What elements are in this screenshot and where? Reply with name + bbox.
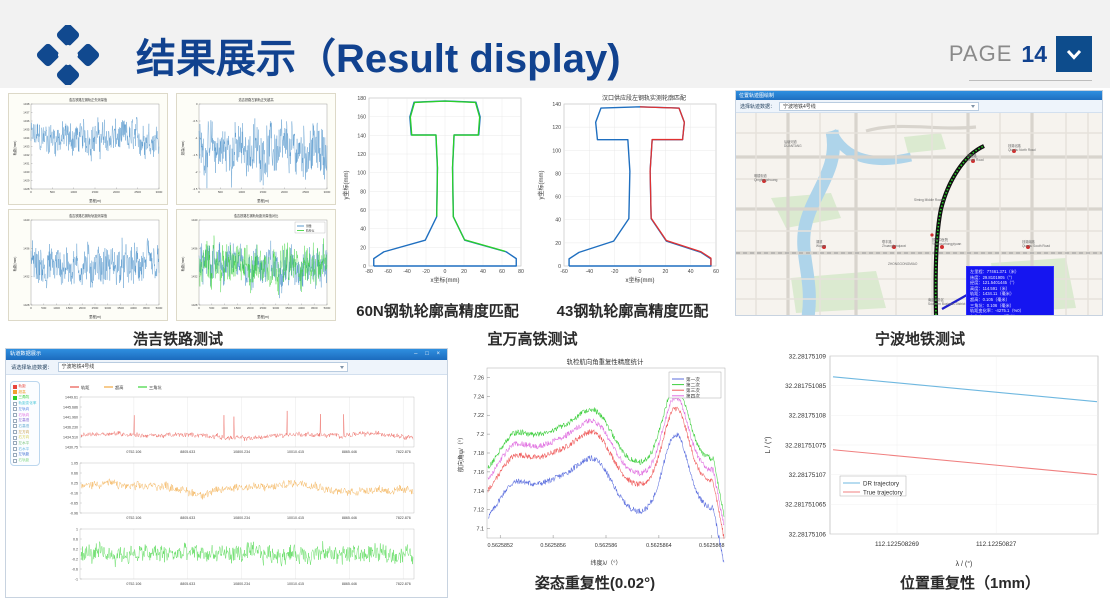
svg-text:Yinzhouzhongyiyuan: Yinzhouzhongyiyuan [932, 242, 962, 246]
chart-legend: 测量轨检仪 [295, 222, 325, 233]
svg-text:-0.5: -0.5 [193, 119, 198, 123]
y-axis-label: 轨距(mm) [12, 141, 17, 156]
svg-text:-1.5: -1.5 [193, 153, 198, 157]
svg-text:32.281751085: 32.281751085 [785, 383, 826, 390]
map-application-window[interactable]: 位置轨迹图绘制 选择轨迹数据： 宁波地铁4号线 [735, 90, 1103, 316]
chevron-down-icon [971, 105, 975, 108]
svg-text:Wupan: Wupan [816, 244, 826, 248]
svg-text:0752.106: 0752.106 [126, 516, 141, 520]
svg-text:32.281751065: 32.281751065 [785, 502, 826, 509]
svg-text:100: 100 [357, 171, 366, 177]
svg-text:500: 500 [41, 306, 46, 310]
y-axis-label: 轨距(mm) [12, 257, 17, 272]
svg-text:0: 0 [558, 264, 561, 270]
map-canvas[interactable]: 后塘河道DUANTANG 明楼街道Qingfengzhuang 湖滨Wupan … [736, 113, 1102, 316]
series-checkbox-row[interactable]: 轨距 [13, 384, 37, 389]
minimize-icon[interactable]: – [414, 351, 420, 357]
checkbox-icon[interactable] [13, 459, 17, 463]
svg-text:500: 500 [218, 190, 223, 194]
chart-title: 汉口供应段左钢轨实测轮廓匹配 [602, 94, 686, 102]
svg-text:1436: 1436 [191, 246, 198, 250]
svg-text:0.25: 0.25 [71, 481, 78, 485]
sw-plot-level[interactable]: 0752.1068805.63310800.23410010.4158865.4… [70, 461, 414, 520]
svg-text:3000: 3000 [324, 190, 331, 194]
svg-text:True trajectory: True trajectory [863, 489, 904, 496]
series-checkbox-row[interactable]: 右水平 [13, 447, 37, 452]
svg-text:1430.75: 1430.75 [65, 445, 78, 449]
svg-text:1431: 1431 [23, 162, 30, 166]
svg-text:8805.633: 8805.633 [180, 450, 195, 454]
svg-text:10800.234: 10800.234 [233, 582, 250, 586]
svg-text:-1: -1 [75, 577, 78, 581]
checkbox-icon[interactable] [13, 436, 17, 440]
x-axis-label: x坐标(mm) [431, 276, 460, 284]
y-axis-label: 轨距(mm) [180, 257, 185, 272]
svg-text:-0.96: -0.96 [70, 511, 78, 515]
svg-text:3500: 3500 [117, 306, 124, 310]
map-window-title: 位置轨迹图绘制 [736, 91, 1102, 100]
svg-text:0: 0 [196, 102, 198, 106]
sw-toolbar-label: 请选择轨迹数据： [11, 364, 53, 371]
checkbox-label: 右轨距 [19, 458, 30, 463]
svg-text:8805.633: 8805.633 [180, 582, 195, 586]
svg-text:0.6: 0.6 [73, 537, 78, 541]
x-axis-label: 里程(m) [257, 314, 269, 319]
page-number: 14 [1021, 41, 1047, 68]
svg-text:3000: 3000 [272, 306, 279, 310]
svg-text:1500: 1500 [92, 190, 99, 194]
svg-text:1437: 1437 [23, 111, 30, 115]
svg-text:10010.415: 10010.415 [287, 450, 304, 454]
series-checkbox-row[interactable]: 右轨距 [13, 458, 37, 463]
svg-text:40: 40 [360, 227, 366, 233]
svg-text:-0.2: -0.2 [72, 557, 78, 561]
checkbox-label: 左轨距 [19, 452, 30, 457]
svg-text:7.1: 7.1 [477, 527, 485, 533]
svg-text:-80: -80 [365, 269, 373, 275]
svg-text:40: 40 [480, 269, 486, 275]
svg-text:8805.633: 8805.633 [180, 516, 195, 520]
series-checkbox-row[interactable]: 左水平 [13, 441, 37, 446]
svg-text:40: 40 [555, 218, 561, 224]
checkbox-icon[interactable] [13, 441, 17, 445]
checkbox-icon[interactable] [13, 419, 17, 423]
slide-header: 结果展示（Result display) PAGE 14 [0, 0, 1110, 88]
svg-text:Jinshi Road: Jinshi Road [967, 158, 984, 162]
caption-ningbo: 宁波地铁测试 [810, 328, 1030, 349]
svg-text:-2.5: -2.5 [193, 187, 198, 191]
svg-text:1436: 1436 [23, 119, 30, 123]
svg-text:0.5625852: 0.5625852 [487, 543, 512, 549]
chevron-down-icon [1066, 49, 1082, 60]
series-checkbox-row[interactable]: 左高低 [13, 418, 37, 423]
svg-text:10800.234: 10800.234 [233, 450, 250, 454]
checkbox-icon[interactable] [13, 447, 17, 451]
svg-text:2000: 2000 [281, 190, 288, 194]
svg-text:10800.234: 10800.234 [233, 516, 250, 520]
svg-text:Zhuanglianqiaoxi: Zhuanglianqiaoxi [882, 244, 906, 248]
svg-text:-20: -20 [611, 269, 619, 275]
series-checkbox-row[interactable]: 三角坑 [13, 395, 37, 400]
checkbox-label: 左高低 [19, 418, 30, 423]
sw-series-sidebar[interactable]: 轨距超高三角坑轨距变化率左轨向右轨向左高低右高低左方向右方向左水平右水平左轨距右… [6, 375, 42, 598]
chevron-down-icon [340, 366, 344, 369]
svg-text:1430: 1430 [23, 170, 30, 174]
x-axis-label: 里程(m) [89, 314, 101, 319]
svg-text:1432: 1432 [23, 275, 30, 279]
svg-text:180: 180 [357, 96, 366, 102]
svg-text:1432: 1432 [191, 275, 198, 279]
noise-chart-comparison[interactable]: 浩吉铁路右钢轨轨距测量值对比 0500100015002000250030003… [176, 209, 336, 321]
chart-title: 轨检航向角重复性精度统计 [567, 357, 644, 366]
svg-text:7.24: 7.24 [474, 394, 485, 400]
rail-profile-43-chart[interactable]: 汉口供应段左钢轨实测轮廓匹配 -60-40-200204060020406080… [532, 90, 728, 286]
chart-legend: DR trajectoryTrue trajectory [840, 476, 906, 496]
svg-text:7.18: 7.18 [474, 451, 485, 457]
svg-text:轨检仪: 轨检仪 [306, 229, 315, 233]
svg-text:1: 1 [76, 527, 78, 531]
x-axis-label: 里程(m) [257, 198, 269, 203]
svg-text:140: 140 [357, 133, 366, 139]
sw-plot-gauge[interactable]: 0752.1068805.63310800.23410010.4158865.4… [63, 395, 414, 454]
svg-text:-0.65: -0.65 [70, 501, 78, 505]
svg-text:8865.446: 8865.446 [342, 516, 357, 520]
svg-text:1428: 1428 [23, 303, 30, 307]
series-checkbox-row[interactable]: 右高低 [13, 424, 37, 429]
y-axis-label: y坐标(mm) [537, 171, 545, 200]
y-axis-label: 航向角ψ/（°） [457, 434, 465, 472]
svg-text:8865.446: 8865.446 [342, 450, 357, 454]
svg-text:1500: 1500 [66, 306, 73, 310]
svg-text:第四次: 第四次 [686, 393, 700, 400]
svg-text:-1: -1 [195, 136, 198, 140]
svg-text:140: 140 [552, 102, 561, 108]
map-toolbar: 选择轨迹数据： 宁波地铁4号线 [736, 100, 1102, 113]
series-checkbox-row[interactable]: 右轨向 [13, 412, 37, 417]
svg-text:160: 160 [357, 115, 366, 121]
svg-text:1000: 1000 [53, 306, 60, 310]
maximize-icon[interactable]: □ [425, 351, 432, 357]
svg-text:0.2: 0.2 [73, 547, 78, 551]
sw-plot-triangle[interactable]: 0752.1068805.63310800.23410010.4158865.4… [72, 527, 414, 586]
svg-text:-0.16: -0.16 [70, 491, 78, 495]
checkbox-label: 左水平 [19, 441, 30, 446]
svg-text:7822.876: 7822.876 [396, 582, 411, 586]
svg-text:1433: 1433 [23, 145, 30, 149]
svg-text:7.26: 7.26 [474, 375, 485, 381]
checkbox-label: 左轨向 [19, 407, 30, 412]
checkbox-icon[interactable] [13, 390, 17, 394]
svg-text:4500: 4500 [143, 306, 150, 310]
svg-text:三角坑: 三角坑 [149, 384, 162, 391]
svg-text:Qingfengzhuang: Qingfengzhuang [754, 178, 778, 182]
svg-text:4000: 4000 [298, 306, 305, 310]
svg-text:80: 80 [518, 269, 524, 275]
sw-toolbar: 请选择轨迹数据： 宁波地铁4号线 [6, 360, 447, 375]
svg-text:Southern Business District: Southern Business District [928, 302, 965, 306]
svg-text:1434.510: 1434.510 [63, 435, 78, 439]
svg-text:1436: 1436 [23, 246, 30, 250]
x-axis-label: 里程(m) [89, 198, 101, 203]
svg-text:轨距: 轨距 [81, 384, 89, 391]
rail-profile-60n-chart[interactable]: -80-60-40-200204060800204060801001201401… [337, 90, 533, 286]
svg-text:1428: 1428 [191, 303, 198, 307]
svg-text:4000: 4000 [130, 306, 137, 310]
svg-text:1440: 1440 [23, 218, 30, 222]
chart-legend: 第一次第二次第三次第四次 [669, 372, 721, 400]
svg-text:2000: 2000 [79, 306, 86, 310]
svg-text:0.66: 0.66 [71, 471, 78, 475]
svg-text:0: 0 [198, 190, 200, 194]
series-checkbox-row[interactable]: 左方向 [13, 430, 37, 435]
svg-text:1441.960: 1441.960 [63, 415, 78, 419]
checkbox-label: 轨距变化率 [19, 401, 37, 406]
svg-text:4500: 4500 [311, 306, 318, 310]
series-checkbox-row[interactable]: 左轨距 [13, 452, 37, 457]
svg-text:0.5625856: 0.5625856 [540, 543, 565, 549]
series-checkbox-row[interactable]: 左轨向 [13, 407, 37, 412]
series-checkbox-row[interactable]: 右方向 [13, 435, 37, 440]
map-line-selected-value: 宁波地铁4号线 [783, 104, 816, 110]
svg-text:20: 20 [662, 269, 668, 275]
svg-text:1000: 1000 [70, 190, 77, 194]
svg-text:1428: 1428 [23, 187, 30, 191]
svg-text:32.28175108: 32.28175108 [789, 413, 827, 420]
svg-text:60: 60 [713, 269, 719, 275]
noise-chart-gauge-right[interactable]: 浩吉铁路右钢轨轨距测量值 050010001500200025003000350… [8, 209, 168, 321]
svg-text:5000: 5000 [156, 306, 163, 310]
svg-text:2500: 2500 [260, 306, 267, 310]
noise-chart-superelevation[interactable]: 浩吉铁路左钢轨正矢超高 050010001500200025003000-2.5… [176, 93, 336, 205]
svg-text:1440: 1440 [191, 218, 198, 222]
svg-text:7.16: 7.16 [474, 470, 485, 476]
svg-text:1435: 1435 [23, 128, 30, 132]
close-icon[interactable]: × [436, 351, 443, 357]
caption-rail60n: 60N钢轨轮廓高精度匹配 [330, 300, 545, 321]
series-checkbox-row[interactable]: 轨距变化率 [13, 401, 37, 406]
map-info-line: 左轨向：-1.1037（毫米） [970, 314, 1050, 316]
header-rule [969, 80, 1092, 81]
svg-text:7822.876: 7822.876 [396, 450, 411, 454]
svg-text:1436.230: 1436.230 [63, 425, 78, 429]
svg-text:112.12250827: 112.12250827 [976, 541, 1017, 548]
svg-text:112.122508269: 112.122508269 [875, 541, 919, 548]
svg-text:40: 40 [688, 269, 694, 275]
svg-text:1449.61: 1449.61 [65, 395, 78, 399]
diamond-logo-icon [33, 25, 103, 85]
svg-text:7.2: 7.2 [477, 432, 485, 438]
checkbox-icon[interactable] [13, 385, 17, 389]
svg-text:1445.686: 1445.686 [63, 405, 78, 409]
svg-text:1429: 1429 [23, 179, 30, 183]
checkbox-label: 左方向 [19, 430, 30, 435]
checkbox-label: 轨距 [19, 384, 26, 389]
checkbox-label: 右轨向 [19, 413, 30, 418]
sw-plots-area: 轨距超高三角坑 0752.1068805.63310800.23410010.4… [42, 375, 447, 598]
svg-text:60: 60 [360, 208, 366, 214]
svg-text:2500: 2500 [92, 306, 99, 310]
svg-text:0752.106: 0752.106 [126, 450, 141, 454]
svg-text:2500: 2500 [302, 190, 309, 194]
checkbox-icon[interactable] [13, 453, 17, 457]
svg-text:20: 20 [461, 269, 467, 275]
chart-title: 浩吉铁路右钢轨轨距测量值 [69, 213, 108, 218]
svg-text:120: 120 [552, 125, 561, 131]
series-checkbox-list[interactable]: 轨距超高三角坑轨距变化率左轨向右轨向左高低右高低左方向右方向左水平右水平左轨距右… [10, 381, 40, 466]
svg-text:-60: -60 [384, 269, 392, 275]
svg-text:Qianhu North Road: Qianhu North Road [1008, 148, 1036, 152]
caption-haoji: 浩吉铁路测试 [68, 328, 288, 349]
svg-text:-2: -2 [195, 170, 198, 174]
svg-text:ZHONGGONGMIAO: ZHONGGONGMIAO [888, 262, 918, 266]
page-indicator: PAGE 14 [949, 36, 1092, 72]
svg-text:10010.415: 10010.415 [287, 516, 304, 520]
x-axis-label: x坐标(mm) [626, 276, 655, 284]
checkbox-label: 右方向 [19, 435, 30, 440]
map-toolbar-label: 选择轨迹数据： [740, 103, 775, 110]
svg-text:0: 0 [639, 269, 642, 275]
svg-text:1000: 1000 [238, 190, 245, 194]
checkbox-label: 三角坑 [19, 395, 30, 400]
checkbox-icon[interactable] [13, 396, 17, 400]
svg-text:1434: 1434 [23, 136, 30, 140]
svg-text:0: 0 [444, 269, 447, 275]
chart-title: 浩吉铁路右钢轨轨距测量值对比 [234, 213, 279, 218]
svg-text:-40: -40 [403, 269, 411, 275]
svg-text:10010.415: 10010.415 [287, 582, 304, 586]
svg-text:-40: -40 [586, 269, 594, 275]
checkbox-label: 右水平 [19, 447, 30, 452]
svg-text:20: 20 [360, 245, 366, 251]
svg-text:3000: 3000 [156, 190, 163, 194]
svg-text:7.22: 7.22 [474, 413, 485, 419]
checkbox-icon[interactable] [13, 413, 17, 417]
svg-text:1432: 1432 [23, 153, 30, 157]
svg-text:2000: 2000 [247, 306, 254, 310]
sw-window-title: 轨道数据展示 [10, 350, 41, 359]
svg-text:0: 0 [30, 190, 32, 194]
caption-yiwan: 宜万高铁测试 [425, 328, 640, 349]
window-controls[interactable]: – □ × [414, 350, 443, 359]
map-info-tooltip: 左里程：77461.371（米）纬度：29.8101905（°）经度：121.5… [966, 266, 1054, 316]
svg-text:0: 0 [198, 306, 200, 310]
svg-text:7822.876: 7822.876 [396, 516, 411, 520]
attitude-repeatability-chart[interactable]: 轨检航向角重复性精度统计 0.56258520.56258560.5625860… [455, 352, 735, 570]
svg-text:32.281751075: 32.281751075 [785, 442, 826, 449]
svg-text:0752.106: 0752.106 [126, 582, 141, 586]
checkbox-icon[interactable] [13, 430, 17, 434]
checkbox-icon[interactable] [13, 402, 17, 406]
svg-text:32.28175106: 32.28175106 [789, 531, 827, 538]
svg-text:32.28175107: 32.28175107 [789, 472, 827, 479]
chart-title: 浩吉铁路左钢轨正矢测量值 [69, 97, 108, 102]
svg-text:7.12: 7.12 [474, 508, 485, 514]
svg-text:1.05: 1.05 [71, 461, 78, 465]
svg-text:Siming Middle Road: Siming Middle Road [914, 198, 943, 202]
svg-text:3000: 3000 [104, 306, 111, 310]
y-axis-label: L / (°) [764, 437, 772, 454]
caption-position: 位置重复性（1mm） [855, 572, 1085, 593]
svg-text:8865.446: 8865.446 [342, 582, 357, 586]
svg-text:1000: 1000 [221, 306, 228, 310]
checkbox-icon[interactable] [13, 424, 17, 428]
svg-text:-0.6: -0.6 [72, 567, 78, 571]
chart-title: 浩吉铁路左钢轨正矢超高 [238, 97, 273, 102]
svg-text:1500: 1500 [234, 306, 241, 310]
svg-text:7.14: 7.14 [474, 489, 485, 495]
sw-titlebar: 轨道数据展示 – □ × [6, 349, 447, 360]
svg-text:60: 60 [555, 195, 561, 201]
map-line-select[interactable]: 宁波地铁4号线 [779, 102, 979, 111]
sw-line-select[interactable]: 宁波地铁4号线 [58, 362, 348, 372]
haoji-charts-block: 浩吉铁路左钢轨正矢测量值 050010001500200025003000142… [8, 93, 338, 321]
track-data-application-window[interactable]: 轨道数据展示 – □ × 请选择轨迹数据： 宁波地铁4号线 轨距超高三角坑轨距变… [5, 348, 448, 598]
svg-text:20: 20 [555, 241, 561, 247]
svg-text:-20: -20 [422, 269, 430, 275]
svg-text:超高: 超高 [115, 384, 123, 391]
svg-text:60: 60 [499, 269, 505, 275]
page-title: 结果展示（Result display) [136, 26, 621, 84]
svg-text:-60: -60 [560, 269, 568, 275]
svg-text:500: 500 [50, 190, 55, 194]
y-axis-label: 超高(mm) [180, 141, 185, 156]
svg-text:80: 80 [555, 171, 561, 177]
caption-rail43: 43钢轨轮廓高精度匹配 [525, 300, 740, 321]
x-axis-label: 纬度λ/（°） [590, 559, 621, 567]
caption-attitude: 姿态重复性(0.02°) [480, 572, 710, 593]
svg-text:500: 500 [209, 306, 214, 310]
svg-text:0.562586: 0.562586 [595, 543, 617, 549]
svg-text:120: 120 [357, 152, 366, 158]
svg-text:DR trajectory: DR trajectory [863, 480, 900, 487]
svg-text:3500: 3500 [285, 306, 292, 310]
svg-text:0: 0 [30, 306, 32, 310]
x-axis-label: λ / (°) [956, 560, 973, 568]
noise-chart-gauge-left[interactable]: 浩吉铁路左钢轨正矢测量值 050010001500200025003000142… [8, 93, 168, 205]
svg-text:2000: 2000 [113, 190, 120, 194]
svg-text:0: 0 [363, 264, 366, 270]
page-label: PAGE [949, 41, 1013, 67]
svg-text:80: 80 [360, 189, 366, 195]
sw-line-selected-value: 宁波地铁4号线 [62, 364, 95, 370]
y-axis-label: y坐标(mm) [342, 171, 350, 200]
checkbox-label: 右高低 [19, 424, 30, 429]
svg-text:1438: 1438 [23, 102, 30, 106]
svg-text:Qianhu South Road: Qianhu South Road [1022, 244, 1050, 248]
svg-text:0.5625864: 0.5625864 [646, 543, 671, 549]
svg-text:DUANTANG: DUANTANG [784, 144, 802, 148]
svg-text:100: 100 [552, 148, 561, 154]
svg-text:1500: 1500 [260, 190, 267, 194]
svg-text:2500: 2500 [134, 190, 141, 194]
position-repeatability-chart[interactable]: 32.2817510632.28175106532.2817510732.281… [740, 348, 1108, 570]
svg-text:测量: 测量 [306, 224, 312, 228]
sw-plot-legend: 轨距超高三角坑 [70, 384, 162, 391]
checkbox-icon[interactable] [13, 407, 17, 411]
next-page-button[interactable] [1056, 36, 1092, 72]
svg-text:32.28175109: 32.28175109 [789, 353, 827, 360]
